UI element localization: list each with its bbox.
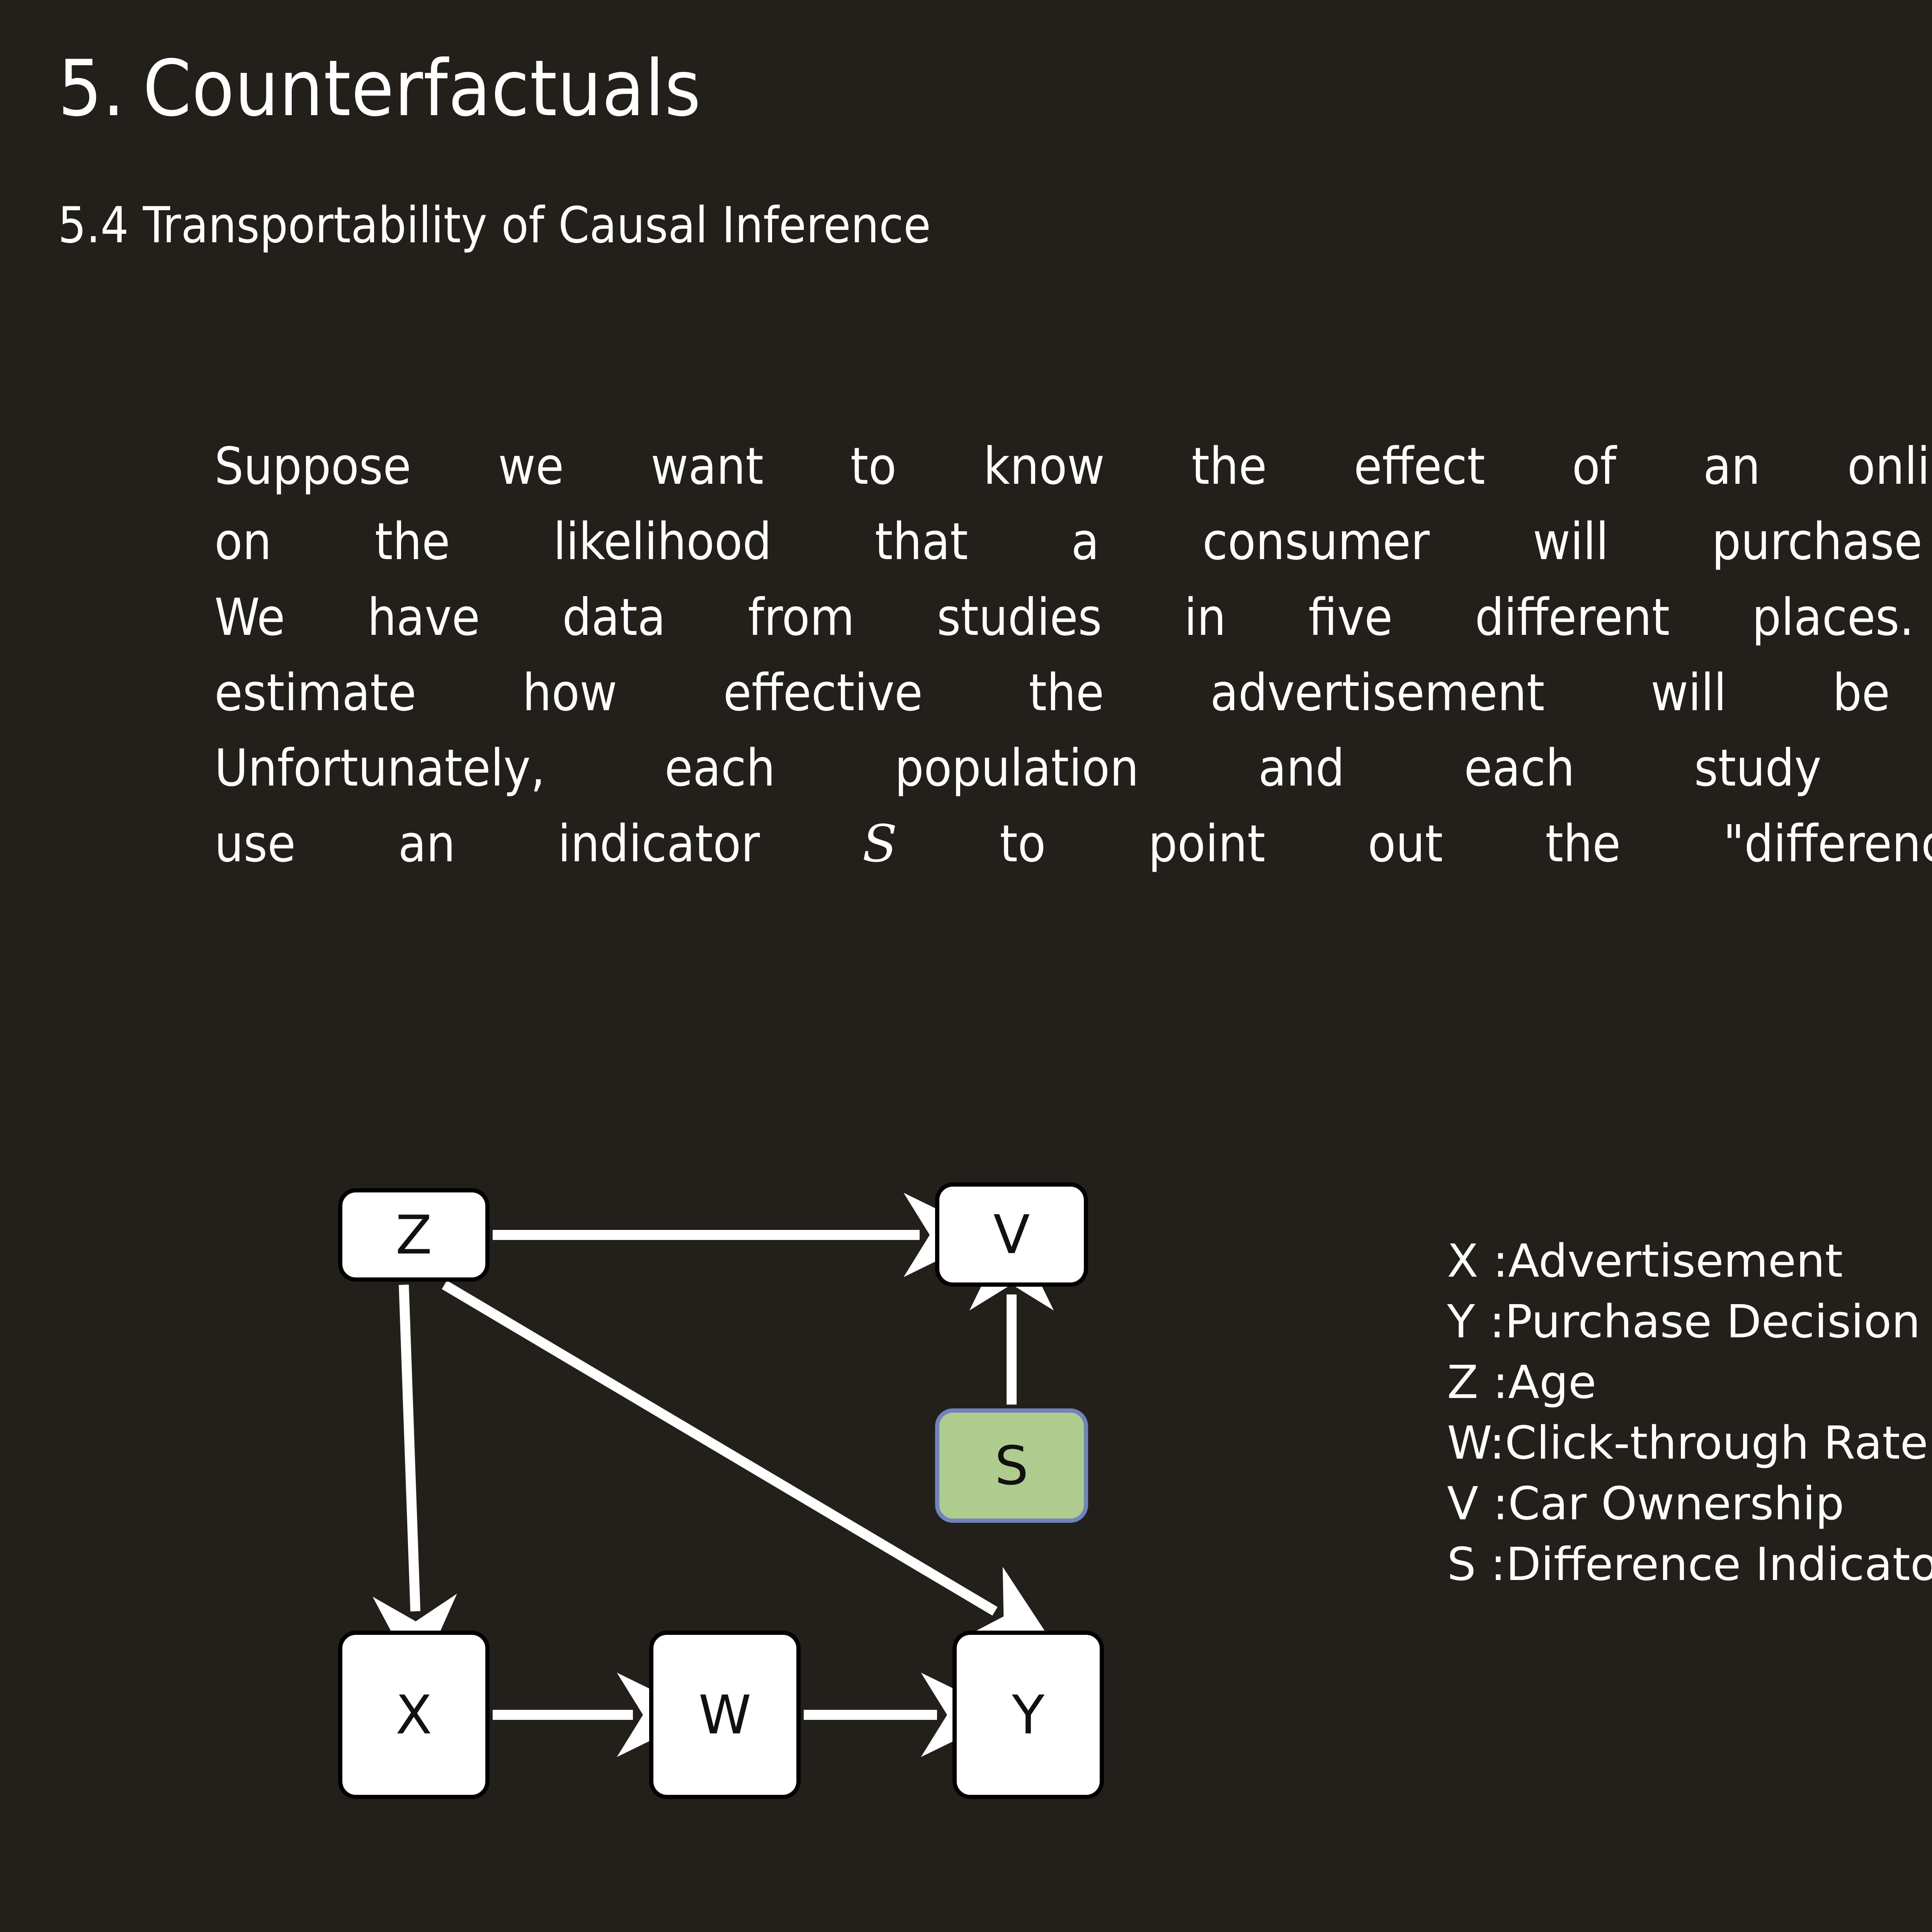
page-title: 5.Counterfactuals bbox=[58, 50, 701, 128]
legend-symbol: W: bbox=[1447, 1413, 1505, 1473]
legend-row: W: Click-through Rate bbox=[1447, 1413, 1932, 1473]
math-var-s: S bbox=[862, 814, 897, 874]
legend-row: Y : Purchase Decision bbox=[1447, 1291, 1932, 1352]
dag-node-label: Y bbox=[1012, 1684, 1044, 1746]
dag-node-w: W bbox=[649, 1631, 801, 1799]
body-line-2: on the likelihood that a consumer will p… bbox=[214, 504, 1932, 580]
causal-dag-diagram: ZVSXWY bbox=[317, 1171, 1136, 1828]
dag-node-label: S bbox=[995, 1435, 1029, 1497]
legend-symbol: S : bbox=[1447, 1534, 1506, 1595]
body-line-4: estimate how effective the advertisement… bbox=[214, 655, 1932, 731]
legend-meaning: Age bbox=[1508, 1355, 1596, 1409]
dag-node-label: V bbox=[993, 1204, 1030, 1266]
legend-row: V : Car Ownership bbox=[1447, 1473, 1932, 1534]
legend-meaning: Click-through Rate bbox=[1505, 1416, 1928, 1469]
legend-meaning: Difference Indicator bbox=[1506, 1537, 1932, 1591]
slide-canvas: 5.Counterfactuals 5.4 Transportability o… bbox=[0, 0, 1932, 1932]
dag-node-z: Z bbox=[338, 1188, 490, 1282]
legend-row: S : Difference Indicator bbox=[1447, 1534, 1932, 1595]
dag-node-label: W bbox=[699, 1684, 751, 1746]
variable-legend: X : AdvertisementY : Purchase DecisionZ … bbox=[1447, 1231, 1932, 1595]
legend-meaning: Purchase Decision bbox=[1505, 1295, 1920, 1348]
edge-z-x bbox=[404, 1285, 415, 1611]
dag-node-v: V bbox=[935, 1182, 1088, 1287]
body-line-6: use an indicator S to point out the "dif… bbox=[214, 806, 1932, 882]
section-title: Counterfactuals bbox=[143, 44, 701, 134]
body-paragraph: Suppose we want to know the effect of an… bbox=[214, 429, 1932, 882]
dag-node-label: Z bbox=[396, 1204, 432, 1266]
legend-meaning: Advertisement bbox=[1508, 1234, 1843, 1287]
legend-row: X : Advertisement bbox=[1447, 1231, 1932, 1291]
legend-symbol: V : bbox=[1447, 1473, 1508, 1534]
dag-node-x: X bbox=[338, 1631, 490, 1799]
legend-symbol: X : bbox=[1447, 1231, 1508, 1291]
body-line-1: Suppose we want to know the effect of an… bbox=[214, 429, 1932, 504]
dag-node-label: X bbox=[396, 1684, 432, 1746]
section-number: 5. bbox=[58, 44, 125, 134]
legend-row: Z : Age bbox=[1447, 1352, 1932, 1413]
legend-symbol: Y : bbox=[1447, 1291, 1505, 1352]
dag-node-y: Y bbox=[952, 1631, 1104, 1799]
body-line-3: We have data from studies in five differ… bbox=[214, 580, 1932, 655]
legend-meaning: Car Ownership bbox=[1508, 1477, 1844, 1530]
legend-symbol: Z : bbox=[1447, 1352, 1508, 1413]
dag-node-s: S bbox=[935, 1408, 1088, 1523]
page-subtitle: 5.4 Transportability of Causal Inference bbox=[58, 201, 931, 250]
body-line-5: Unfortunately, each population and each … bbox=[214, 731, 1932, 806]
edge-z-y bbox=[444, 1285, 995, 1611]
